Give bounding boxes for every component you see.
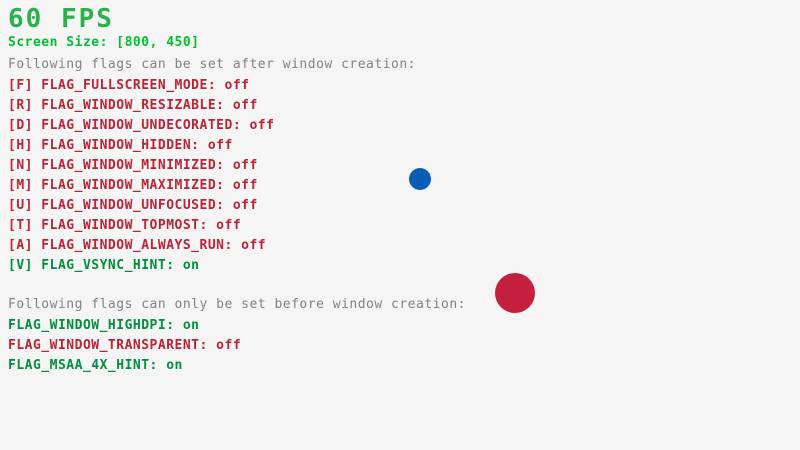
flag-row-flag-window-resizable[interactable]: [R] FLAG_WINDOW_RESIZABLE: off — [8, 99, 258, 112]
flag-row-flag-msaa-4x-hint[interactable]: FLAG_MSAA_4X_HINT: on — [8, 359, 183, 372]
blue-ball — [409, 168, 431, 190]
flag-row-flag-window-unfocused[interactable]: [U] FLAG_WINDOW_UNFOCUSED: off — [8, 199, 258, 212]
flag-row-flag-fullscreen-mode[interactable]: [F] FLAG_FULLSCREEN_MODE: off — [8, 79, 249, 92]
flag-row-flag-window-always-run[interactable]: [A] FLAG_WINDOW_ALWAYS_RUN: off — [8, 239, 266, 252]
flag-row-flag-window-maximized[interactable]: [M] FLAG_WINDOW_MAXIMIZED: off — [8, 179, 258, 192]
heading-flags-after-creation: Following flags can be set after window … — [8, 58, 416, 71]
flag-row-flag-window-highdpi[interactable]: FLAG_WINDOW_HIGHDPI: on — [8, 319, 200, 332]
flag-row-flag-vsync-hint[interactable]: [V] FLAG_VSYNC_HINT: on — [8, 259, 200, 272]
flag-row-flag-window-hidden[interactable]: [H] FLAG_WINDOW_HIDDEN: off — [8, 139, 233, 152]
raylib-window-flags-demo: 60 FPS Screen Size: [800, 450] Following… — [0, 0, 800, 450]
red-ball — [495, 273, 535, 313]
screen-size-label: Screen Size: [800, 450] — [8, 36, 200, 49]
fps-counter: 60 FPS — [8, 6, 114, 32]
flag-row-flag-window-topmost[interactable]: [T] FLAG_WINDOW_TOPMOST: off — [8, 219, 241, 232]
flag-row-flag-window-undecorated[interactable]: [D] FLAG_WINDOW_UNDECORATED: off — [8, 119, 274, 132]
heading-flags-before-creation: Following flags can only be set before w… — [8, 298, 466, 311]
flag-row-flag-window-transparent[interactable]: FLAG_WINDOW_TRANSPARENT: off — [8, 339, 241, 352]
flag-row-flag-window-minimized[interactable]: [N] FLAG_WINDOW_MINIMIZED: off — [8, 159, 258, 172]
